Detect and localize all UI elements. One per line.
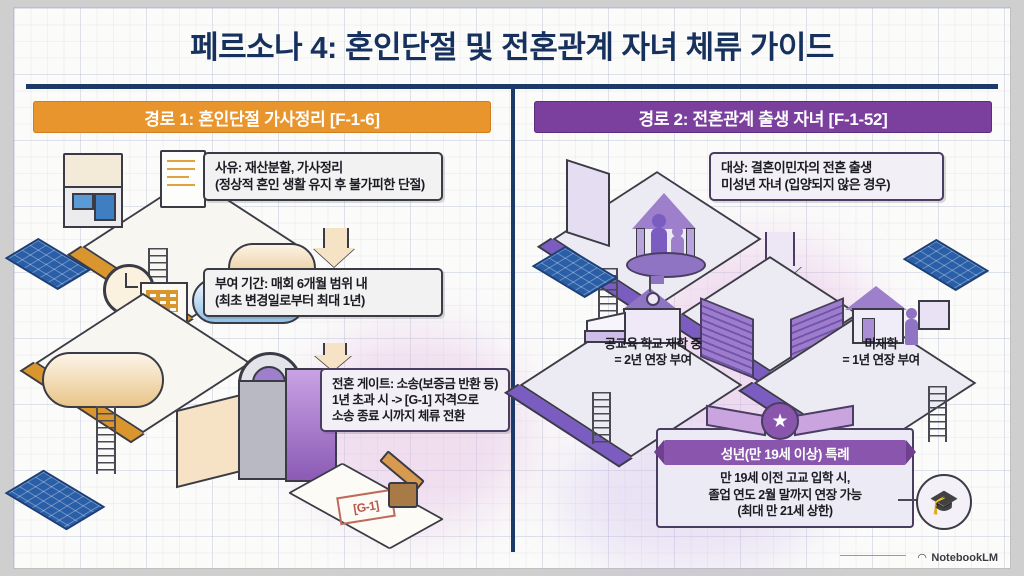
building-window-icon — [72, 193, 94, 210]
panel-divider — [511, 86, 515, 552]
callout-line: (최대 만 21세 상한) — [660, 503, 910, 520]
document-icon — [160, 150, 206, 208]
stage-disc — [626, 252, 706, 278]
callout-line: = 2년 연장 부여 — [583, 352, 723, 368]
infographic-canvas: 페르소나 4: 혼인단절 및 전혼관계 자녀 체류 가이드 경로 1: 혼인단절… — [0, 0, 1024, 576]
document-line — [167, 160, 195, 162]
page-title: 페르소나 4: 혼인단절 및 전혼관계 자녀 체류 가이드 — [30, 22, 994, 67]
person-icon — [906, 308, 917, 319]
callout-line: 전혼 게이트: 소송(보증금 반환 등) — [332, 376, 498, 392]
document-line — [167, 176, 189, 178]
gavel-head — [388, 482, 418, 508]
machine-column — [238, 380, 288, 480]
callout-line: (정상적 혼인 생활 유지 후 불가피한 단절) — [215, 177, 431, 194]
callout-line: 사유: 재산분할, 가사정리 — [215, 160, 431, 177]
clock-hand — [125, 286, 138, 288]
document-line — [167, 184, 195, 186]
adult-special-text: 만 19세 이전 고교 입학 시, 졸업 연도 2월 말까지 연장 가능 (최대… — [660, 470, 910, 520]
notebooklm-logo-icon: ◠ — [918, 551, 926, 564]
ladder-icon — [592, 392, 611, 444]
flow-arrow-down — [323, 343, 347, 357]
callout-reason: 사유: 재산분할, 가사정리 (정상적 혼인 생활 유지 후 불가피한 단절) — [203, 152, 443, 201]
callout-gate: 전혼 게이트: 소송(보증금 반환 등) 1년 초과 시 -> [G-1] 자격… — [320, 368, 510, 432]
flow-arrow-down — [323, 228, 349, 250]
callout-line: 미재학 — [816, 336, 946, 352]
callout-line: 소송 종료 시까지 체류 전환 — [332, 408, 498, 424]
callout-line: 졸업 연도 2월 말까지 연장 가능 — [660, 487, 910, 504]
callout-line: 1년 초과 시 -> [G-1] 자격으로 — [332, 392, 498, 408]
panel-banner-path-2: 경로 2: 전혼관계 출생 자녀 [F-1-52] — [534, 101, 992, 133]
watermark-rule — [840, 555, 906, 556]
pipe-icon — [42, 352, 164, 408]
graduation-cap-icon: 🎓 — [916, 474, 972, 530]
backdrop-panel — [566, 159, 610, 247]
gradcap-connector — [898, 499, 918, 501]
callout-line: 미성년 자녀 (입양되지 않은 경우) — [721, 177, 932, 194]
callout-line: 부여 기간: 매회 6개월 범위 내 — [215, 276, 431, 293]
document-line — [167, 168, 195, 170]
panel-banner-path-1: 경로 1: 혼인단절 가사정리 [F-1-6] — [33, 101, 491, 133]
callout-line: 대상: 결혼이민자의 전혼 출생 — [721, 160, 932, 177]
person-icon — [652, 214, 666, 228]
callout-school: 공교육 학교 재학 중 = 2년 연장 부여 — [573, 330, 733, 374]
ladder-icon — [928, 386, 947, 442]
callout-non-school: 미재학 = 1년 연장 부여 — [806, 330, 956, 374]
callout-line: 만 19세 이전 고교 입학 시, — [660, 470, 910, 487]
ladder-icon — [96, 406, 116, 474]
callout-line: = 1년 연장 부여 — [816, 352, 946, 368]
watermark: ◠ NotebookLM — [918, 551, 998, 564]
watermark-label: NotebookLM — [931, 552, 998, 564]
callout-period: 부여 기간: 매회 6개월 범위 내 (최초 변경일로부터 최대 1년) — [203, 268, 443, 317]
school-clock-icon — [646, 292, 660, 306]
board-icon — [918, 300, 950, 330]
flag-icon — [651, 276, 664, 284]
callout-line: 공교육 학교 재학 중 — [583, 336, 723, 352]
callout-line: (최초 변경일로부터 최대 1년) — [215, 293, 431, 310]
building-door-icon — [94, 193, 116, 221]
star-medal-icon: ★ — [761, 402, 799, 440]
adult-special-ribbon: 성년(만 19세 이상) 특례 — [664, 440, 906, 465]
callout-target: 대상: 결혼이민자의 전혼 출생 미성년 자녀 (입양되지 않은 경우) — [709, 152, 944, 201]
